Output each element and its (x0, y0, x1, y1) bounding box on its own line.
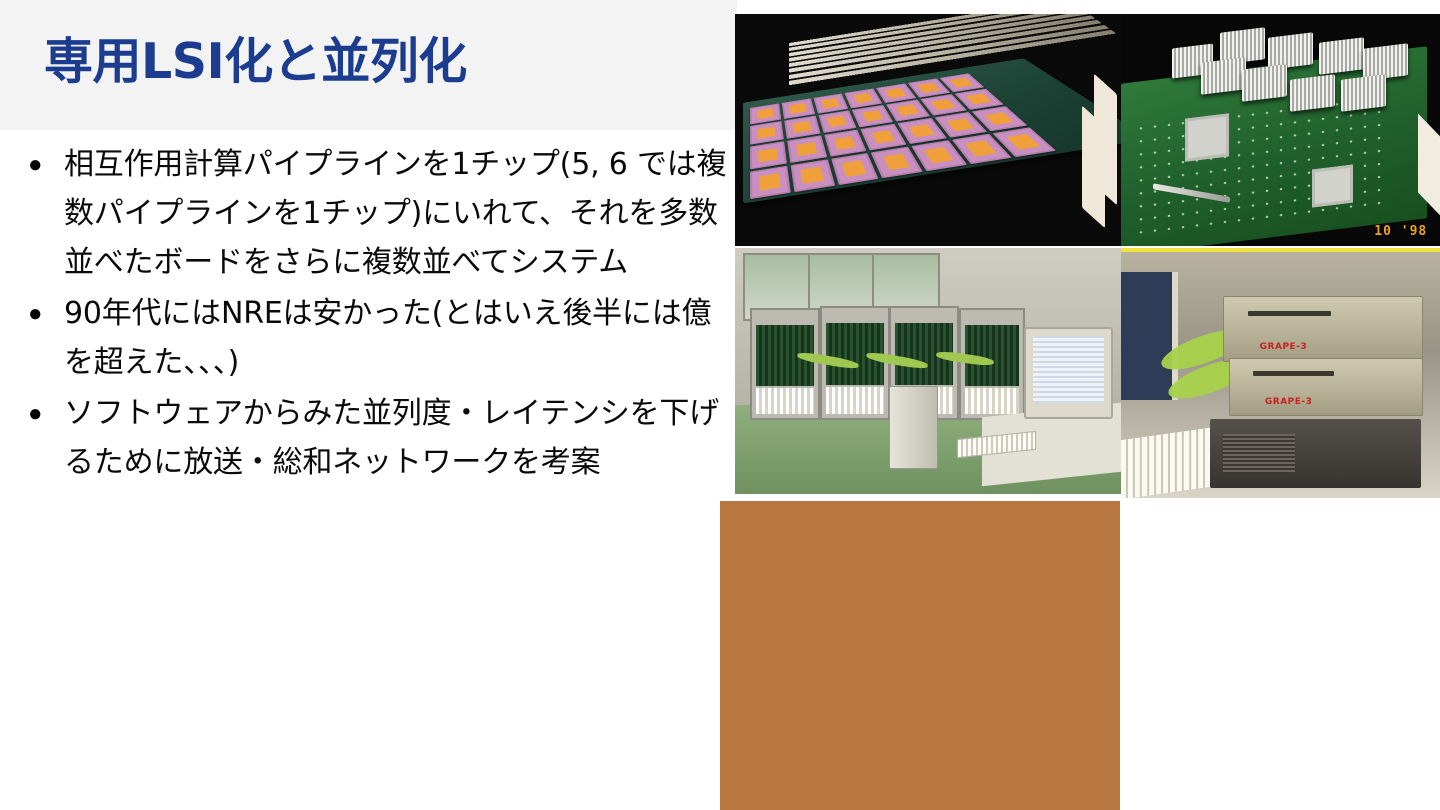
chip-socket (1185, 113, 1229, 162)
photo-date-stamp: 10 '98 (1374, 224, 1427, 239)
list-item: ● ソフトウェアからみた並列度・レイテンシを下げるために放送・総和ネットワークを… (0, 389, 737, 487)
list-item-text: 90年代にはNREは安かった(とはいえ後半には億を超えた、、、) (50, 289, 737, 387)
bullet-marker-icon: ● (28, 389, 50, 438)
bullet-marker-icon: ● (28, 140, 50, 189)
grape3-label: GRAPE-3 (1265, 397, 1313, 407)
photo-machine-room-racks (735, 248, 1121, 494)
crt-monitor (1024, 327, 1113, 420)
slide-canvas: 専用LSI化と並列化 ● 相互作用計算パイプラインを1チップ(5, 6 では複数… (0, 0, 1440, 810)
heatsink (1290, 74, 1335, 112)
crt-monitor (1121, 272, 1178, 400)
heatsink (1201, 58, 1246, 96)
keyboard (1121, 428, 1210, 498)
grape3-unit: GRAPE-3 (1229, 358, 1422, 417)
tower-pc (889, 386, 937, 469)
photo-grape-board-purple-chips (735, 14, 1121, 246)
photo-grape-3-boxes: GRAPE-3 GRAPE-3 (1121, 248, 1440, 498)
equipment-rack (750, 308, 820, 420)
heatsink (1268, 32, 1313, 70)
bullet-list: ● 相互作用計算パイプラインを1チップ(5, 6 では複数パイプラインを1チップ… (0, 140, 737, 620)
list-item: ● 相互作用計算パイプラインを1チップ(5, 6 では複数パイプラインを1チップ… (0, 140, 737, 287)
list-item-text: ソフトウェアからみた並列度・レイテンシを下げるために放送・総和ネットワークを考案 (50, 389, 737, 487)
workstation-chassis (1210, 419, 1421, 488)
heatsink (1319, 37, 1364, 75)
photo-green-pcb-silver-heatsinks: 10 '98 (1121, 14, 1440, 246)
photo-mosaic: 10 '98 (710, 0, 1440, 810)
list-item: ● 90年代にはNREは安かった(とはいえ後半には億を超えた、、、) (0, 289, 737, 387)
grape3-unit: GRAPE-3 (1223, 296, 1423, 362)
list-item-text: 相互作用計算パイプラインを1チップ(5, 6 では複数パイプラインを1チップ)に… (50, 140, 737, 287)
chip-socket (1312, 165, 1353, 209)
edge-connector (1082, 106, 1105, 229)
grape3-label: GRAPE-3 (1260, 342, 1308, 352)
heatsink (1242, 65, 1287, 103)
bullet-marker-icon: ● (28, 289, 50, 338)
page-title: 専用LSI化と並列化 (44, 36, 467, 87)
wooden-table (720, 501, 1120, 810)
photo-green-pcb-black-heatsinks (720, 501, 1120, 810)
heatsink (1341, 74, 1386, 112)
